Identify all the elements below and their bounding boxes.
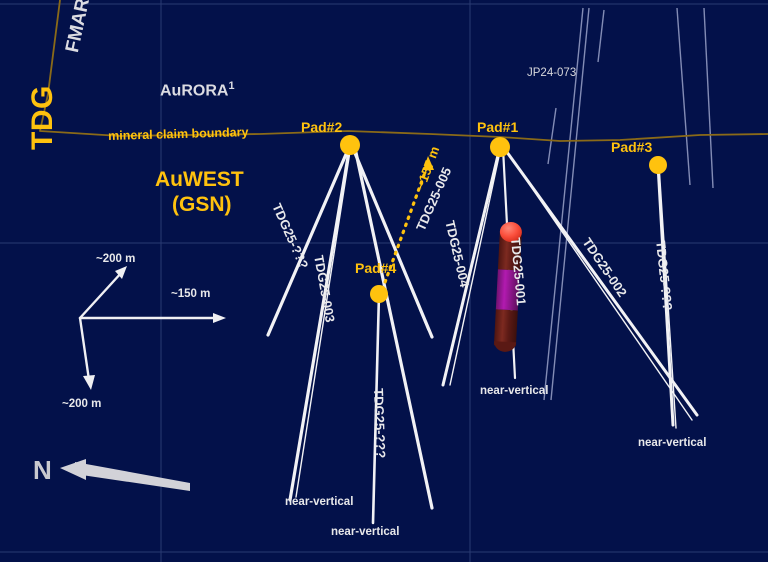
pad-marker-pad1[interactable]	[490, 137, 510, 157]
pad-markers-layer	[0, 0, 768, 562]
pad-marker-pad3[interactable]	[649, 156, 667, 174]
pad-marker-pad2[interactable]	[340, 135, 360, 155]
drill-plan-map: TDG FMAR AuRORA1 AuWEST (GSN) mineral cl…	[0, 0, 768, 562]
pad-marker-pad4[interactable]	[370, 285, 388, 303]
